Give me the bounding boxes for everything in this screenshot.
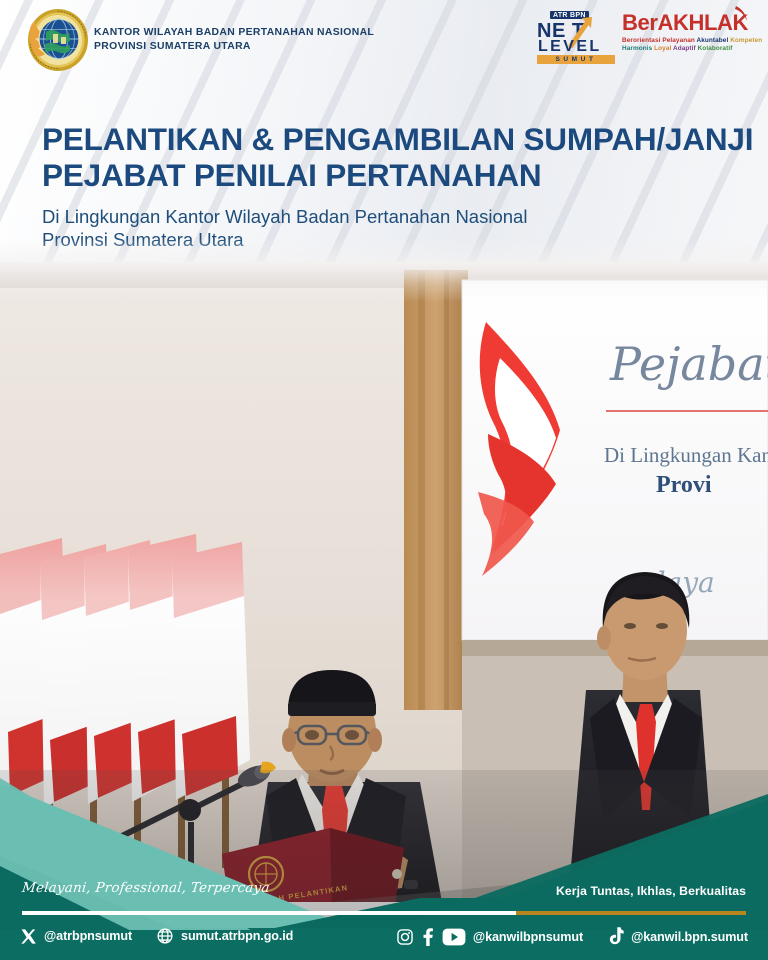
svg-text:Di Lingkungan Kan: Di Lingkungan Kan <box>604 443 768 467</box>
social-links-right: @kanwilbpnsumut @kanwil.bpn.sumut <box>396 927 748 946</box>
value-loyal: Loyal <box>654 45 673 52</box>
berakhlak-title: BerAKHLAK <box>622 10 748 35</box>
youtube-handle[interactable]: @kanwilbpnsumut <box>473 930 583 944</box>
poster-canvas: KANTOR WILAYAH BADAN PERTANAHAN NASIONAL… <box>0 0 768 960</box>
x-twitter-icon[interactable] <box>20 928 37 945</box>
svg-text:Provi: Provi <box>656 472 712 498</box>
event-subtitle-line-2: Provinsi Sumatera Utara <box>42 228 752 251</box>
org-line-2: PROVINSI SUMATERA UTARA <box>94 40 374 54</box>
value-harmonis: Harmonis <box>622 45 654 52</box>
footer-divider-gold <box>516 911 746 915</box>
tiktok-handle[interactable]: @kanwil.bpn.sumut <box>631 930 748 944</box>
next-level-sumut-text: SUMUT <box>537 55 615 64</box>
instagram-icon[interactable] <box>396 928 414 946</box>
event-subtitle-line-1: Di Lingkungan Kantor Wilayah Badan Perta… <box>42 205 752 228</box>
swoosh-check-icon <box>734 5 750 30</box>
website-url[interactable]: sumut.atrbpn.go.id <box>181 929 293 943</box>
youtube-icon[interactable] <box>442 928 466 946</box>
social-links-left: @atrbpnsumut sumut.atrbpn.go.id <box>20 927 293 945</box>
tagline-left: Melayani, Professional, Terpercaya <box>21 880 270 896</box>
svg-text:Pejabat P: Pejabat P <box>609 337 768 391</box>
next-level-level-text: LEVEL <box>538 38 602 56</box>
x-handle[interactable]: @atrbpnsumut <box>44 929 132 943</box>
tiktok-icon[interactable] <box>607 927 624 946</box>
organization-name: KANTOR WILAYAH BADAN PERTANAHAN NASIONAL… <box>94 26 374 54</box>
tagline-right: Kerja Tuntas, Ikhlas, Berkualitas <box>556 884 746 898</box>
value-kolaboratif: Kolaboratif <box>698 45 733 52</box>
event-subtitle: Di Lingkungan Kantor Wilayah Badan Perta… <box>42 205 752 252</box>
berakhlak-values: Berorientasi Pelayanan Akuntabel Kompete… <box>622 37 752 54</box>
event-title-block: PELANTIKAN & PENGAMBILAN SUMPAH/JANJI PE… <box>42 122 752 252</box>
event-title-line-1: PELANTIKAN & PENGAMBILAN SUMPAH/JANJI <box>42 122 752 158</box>
event-title-line-2: PEJABAT PENILAI PERTANAHAN <box>42 158 752 194</box>
globe-website-icon[interactable] <box>156 927 174 945</box>
facebook-icon[interactable] <box>421 928 435 946</box>
berakhlak-logo: BerAKHLAK Berorientasi Pelayanan Akuntab… <box>622 12 752 64</box>
org-line-1: KANTOR WILAYAH BADAN PERTANAHAN NASIONAL <box>94 26 374 40</box>
bpn-globe-emblem-logo <box>26 8 90 72</box>
footer-divider-white <box>22 911 516 915</box>
value-akuntabel: Akuntabel <box>697 37 731 44</box>
header-topbar: KANTOR WILAYAH BADAN PERTANAHAN NASIONAL… <box>0 0 768 82</box>
header-band: KANTOR WILAYAH BADAN PERTANAHAN NASIONAL… <box>0 0 768 272</box>
value-kompeten: Kompeten <box>730 37 762 44</box>
value-berorientasi-pelayanan: Berorientasi Pelayanan <box>622 37 697 44</box>
berakhlak-values-line-1: Berorientasi Pelayanan Akuntabel Kompete… <box>622 37 752 45</box>
value-adaptif: Adaptif <box>673 45 698 52</box>
berakhlak-values-line-2: Harmonis Loyal Adaptif Kolaboratif <box>622 45 752 53</box>
next-level-sumut-logo: ATR BPN NE T LEVEL SUMUT <box>537 12 617 66</box>
